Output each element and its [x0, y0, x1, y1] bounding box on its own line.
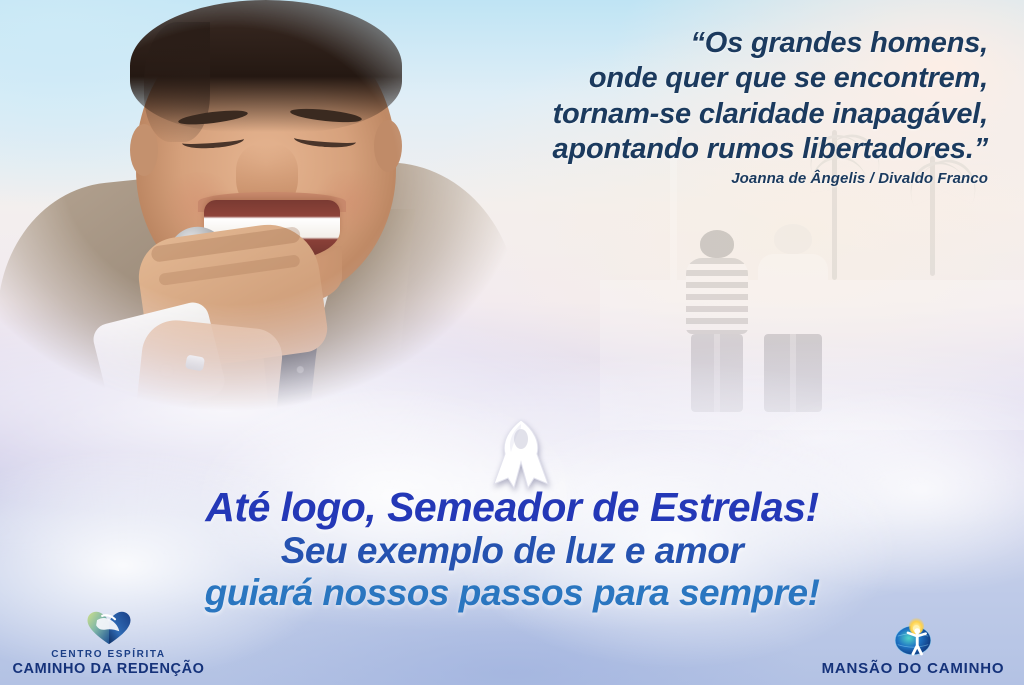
photo-figure-white-shirt: [758, 224, 828, 412]
quote-line-3: tornam-se claridade inapagável,: [428, 97, 988, 132]
figure-torso: [758, 254, 828, 334]
figure-legs: [691, 334, 743, 412]
figure-legs: [764, 334, 822, 412]
quote-attribution: Joanna de Ângelis / Divaldo Franco: [428, 170, 988, 187]
quote-line-2: onde quer que se encontrem,: [428, 61, 988, 96]
logo-centro-espirita[interactable]: CENTRO ESPÍRITA CAMINHO DA REDENÇÃO: [6, 607, 211, 677]
headline-line-1: Até logo, Semeador de Estrelas!: [0, 486, 1024, 529]
headline-line-3: guiará nossos passos para sempre!: [0, 573, 1024, 612]
globe-figure-light-icon: [808, 617, 1018, 657]
figure-head: [774, 224, 812, 254]
memorial-poster: “Os grandes homens, onde quer que se enc…: [0, 0, 1024, 685]
quote-block: “Os grandes homens, onde quer que se enc…: [428, 26, 988, 168]
hair: [130, 0, 402, 132]
ear-right: [374, 120, 402, 172]
hand-holding-microphone: [135, 317, 285, 431]
hands-heart-icon: [6, 607, 211, 647]
headline-block: Até logo, Semeador de Estrelas! Seu exem…: [0, 486, 1024, 612]
mourning-ribbon-icon: [486, 412, 556, 492]
logo-left-line-1: CENTRO ESPÍRITA: [6, 649, 211, 660]
logo-right-line-1: MANSÃO DO CAMINHO: [808, 660, 1018, 677]
figure-torso: [686, 258, 748, 334]
quote-line-4: apontando rumos libertadores.”: [428, 132, 988, 167]
figure-head: [700, 230, 734, 258]
headline-line-2: Seu exemplo de luz e amor: [0, 531, 1024, 570]
ring: [185, 355, 205, 372]
photo-figure-striped: [686, 230, 748, 412]
quote-line-1: “Os grandes homens,: [428, 26, 988, 61]
logo-left-line-2: CAMINHO DA REDENÇÃO: [6, 661, 211, 677]
logo-mansao-do-caminho[interactable]: MANSÃO DO CAMINHO: [808, 617, 1018, 677]
